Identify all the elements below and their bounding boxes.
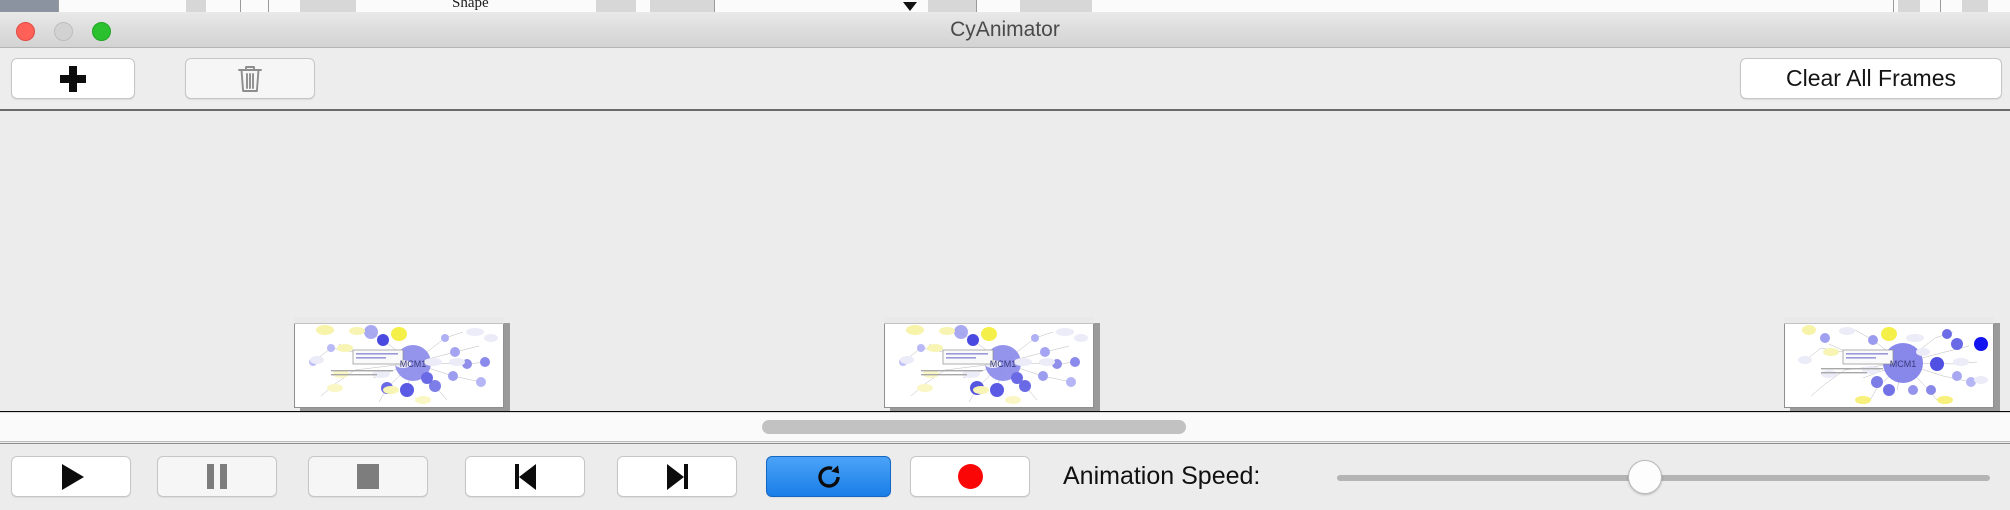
bg-divider	[268, 0, 269, 12]
title-bar: CyAnimator	[0, 12, 2010, 48]
stop-icon	[357, 464, 379, 489]
bg-divider	[1893, 0, 1894, 12]
bg-chunk	[650, 0, 714, 12]
bg-divider	[714, 0, 715, 12]
skip-end-button[interactable]	[617, 456, 737, 497]
trash-icon	[237, 64, 263, 94]
toolbar: Clear All Frames	[0, 48, 2010, 111]
playback-toolbar: Animation Speed:	[0, 443, 2010, 510]
frame-node-label: MCM1	[990, 359, 1017, 369]
bg-chunk	[186, 0, 206, 12]
plus-icon	[60, 66, 86, 92]
scrollbar-thumb[interactable]	[762, 420, 1186, 434]
delete-frame-button[interactable]	[185, 58, 315, 99]
bg-shape-label: Shape	[452, 0, 489, 12]
timeline-scrollbar[interactable]	[0, 412, 2010, 442]
frame-network-preview: MCM1	[294, 317, 504, 408]
stop-button[interactable]	[308, 456, 428, 497]
frame-header	[294, 317, 504, 324]
network-graph: MCM1	[1785, 318, 1993, 407]
play-icon	[62, 464, 84, 490]
network-graph: MCM1	[885, 318, 1093, 407]
frame-thumbnail[interactable]: MCM1	[294, 317, 510, 411]
bg-chunk	[596, 0, 636, 12]
frame-network-preview: MCM1	[884, 317, 1094, 408]
slider-thumb[interactable]	[1628, 460, 1662, 494]
loop-button[interactable]	[766, 456, 891, 497]
bg-divider	[1940, 0, 1941, 12]
clear-all-frames-button[interactable]: Clear All Frames	[1740, 58, 2002, 99]
frame-node-label: MCM1	[1890, 359, 1917, 369]
loop-icon	[814, 462, 844, 492]
record-icon	[958, 464, 983, 489]
timeline-panel[interactable]: MCM1	[0, 111, 2010, 412]
cyanimator-window: Shape CyAnimator Clear All Frames	[0, 0, 2010, 510]
skip-to-end-icon	[667, 464, 688, 490]
slider-track[interactable]	[1337, 475, 1990, 481]
bg-divider	[976, 0, 977, 12]
skip-start-button[interactable]	[465, 456, 585, 497]
animation-speed-label: Animation Speed:	[1063, 456, 1260, 497]
animation-speed-slider[interactable]	[1337, 475, 1990, 481]
bg-cursor-arrow	[903, 2, 917, 11]
frame-thumbnail[interactable]: MCM1	[1784, 317, 2000, 411]
record-button[interactable]	[910, 456, 1030, 497]
bg-divider	[58, 0, 59, 12]
frame-header	[884, 317, 1094, 324]
bg-chunk	[1898, 0, 1920, 12]
frame-node-label: MCM1	[400, 359, 427, 369]
frame-header	[1784, 317, 1994, 324]
bg-chunk	[300, 0, 356, 12]
play-button[interactable]	[11, 456, 131, 497]
bg-chunk	[0, 0, 58, 12]
add-frame-button[interactable]	[11, 58, 135, 99]
bg-chunk	[928, 0, 976, 12]
bg-chunk	[1020, 0, 1092, 12]
network-graph: MCM1	[295, 318, 503, 407]
pause-icon	[207, 464, 227, 489]
bg-chunk	[1962, 0, 1988, 12]
skip-to-start-icon	[515, 464, 536, 490]
bg-divider	[240, 0, 241, 12]
frame-network-preview: MCM1	[1784, 317, 1994, 408]
frame-thumbnail[interactable]: MCM1	[884, 317, 1100, 411]
pause-button[interactable]	[157, 456, 277, 497]
window-title: CyAnimator	[0, 12, 2010, 48]
